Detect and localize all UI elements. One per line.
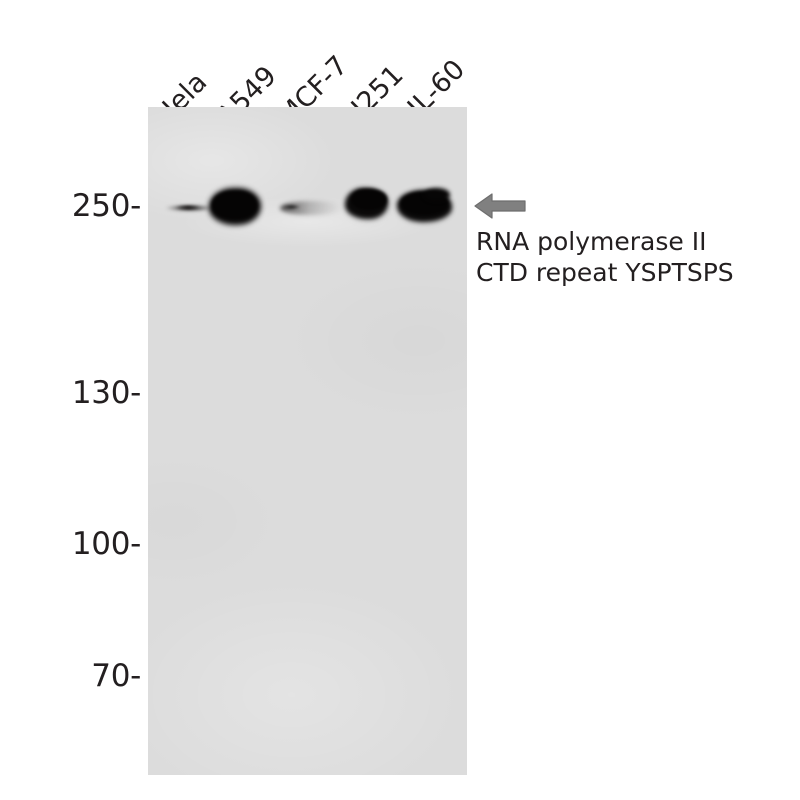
western-blot-figure: Hela A549 MCF-7 U251 HL-60 250- 130- 100… xyxy=(0,0,800,800)
band-mcf7 xyxy=(280,201,342,215)
band-u251 xyxy=(345,188,388,219)
band-hl60-bump xyxy=(424,188,450,201)
mw-marker-250: 250- xyxy=(40,188,141,224)
annotation-line-2: CTD repeat YSPTSPS xyxy=(476,257,786,288)
mw-marker-100: 100- xyxy=(40,526,141,562)
annotation-line-1: RNA polymerase II xyxy=(476,226,786,257)
band-halo xyxy=(148,187,467,257)
band-hela xyxy=(156,200,214,216)
target-protein-annotation: RNA polymerase II CTD repeat YSPTSPS xyxy=(476,226,786,288)
band-hl60 xyxy=(397,190,452,222)
band-a549 xyxy=(209,188,261,225)
band-hl60-core xyxy=(401,192,448,215)
band-u251-core xyxy=(351,189,387,210)
blot-membrane-panel xyxy=(148,107,467,775)
band-mcf7-core xyxy=(282,203,302,211)
arrow-left-icon xyxy=(473,190,527,222)
band-hl60-diffuse xyxy=(392,185,458,231)
band-u251-diffuse xyxy=(340,184,394,230)
band-hela-core xyxy=(174,203,202,212)
mw-marker-70: 70- xyxy=(40,658,141,694)
band-a549-diffuse xyxy=(204,183,266,235)
mw-marker-130: 130- xyxy=(40,375,141,411)
membrane-texture xyxy=(148,107,467,775)
band-a549-core xyxy=(212,191,257,219)
